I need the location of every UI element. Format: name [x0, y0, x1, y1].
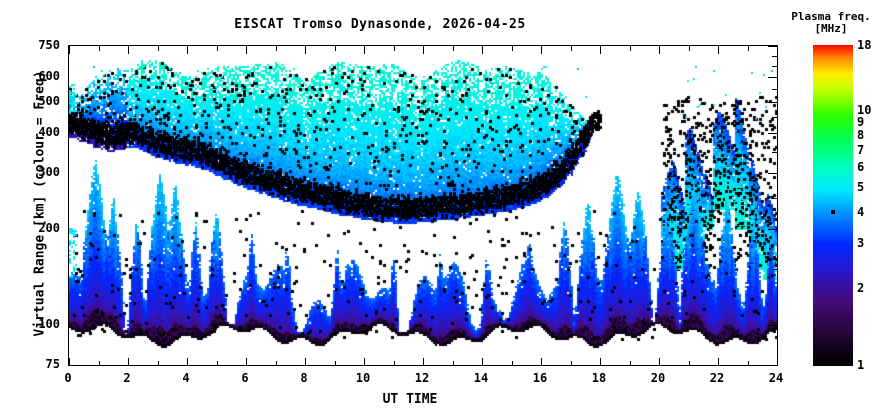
x-minor-tick: [335, 361, 336, 366]
x-tick: [600, 358, 601, 366]
x-tick-top: [335, 46, 336, 51]
y-tick-right: [768, 46, 777, 47]
x-tick-top: [689, 46, 690, 51]
x-tick-top: [718, 46, 719, 54]
y-tick-right: [768, 229, 777, 230]
y-tick: [68, 133, 69, 134]
x-minor-tick: [394, 361, 395, 366]
y-tick-label: 100: [4, 317, 60, 331]
y-tick-label: 75: [4, 357, 60, 371]
x-tick-label: 20: [638, 371, 678, 385]
x-minor-tick: [158, 361, 159, 366]
x-tick-top: [69, 46, 70, 54]
x-tick-label: 12: [402, 371, 442, 385]
x-tick: [777, 358, 778, 366]
x-tick-top: [217, 46, 218, 51]
x-tick-top: [630, 46, 631, 51]
y-minor-tick-right: [772, 152, 777, 153]
ionogram-data-canvas: [69, 46, 777, 365]
colorbar-tick-label: 18: [857, 38, 871, 52]
x-tick: [718, 358, 719, 366]
x-tick-label: 0: [48, 371, 88, 385]
x-minor-tick: [99, 361, 100, 366]
x-minor-tick: [748, 361, 749, 366]
colorbar-gradient: [813, 45, 853, 366]
x-tick-label: 4: [166, 371, 206, 385]
x-tick: [482, 358, 483, 366]
x-tick-label: 8: [284, 371, 324, 385]
y-tick: [68, 77, 69, 78]
colorbar-tick-label: 5: [857, 180, 864, 194]
colorbar-tick-label: 1: [857, 358, 864, 372]
colorbar-tick-label: 4: [857, 205, 864, 219]
y-tick-right: [768, 365, 777, 366]
y-tick: [68, 365, 69, 366]
x-tick: [128, 358, 129, 366]
x-tick-label: 10: [343, 371, 383, 385]
x-tick-top: [600, 46, 601, 54]
x-tick: [423, 358, 424, 366]
x-tick-top: [99, 46, 100, 51]
x-tick-top: [512, 46, 513, 51]
y-tick-label: 400: [4, 125, 60, 139]
y-minor-tick: [68, 269, 69, 270]
colorbar-tick-label: 7: [857, 143, 864, 157]
x-minor-tick: [453, 361, 454, 366]
y-minor-tick: [68, 198, 69, 199]
x-tick-top: [482, 46, 483, 54]
x-minor-tick: [571, 361, 572, 366]
x-tick-top: [394, 46, 395, 51]
x-tick: [541, 358, 542, 366]
y-minor-tick: [68, 56, 69, 57]
x-tick-top: [305, 46, 306, 54]
plot-area[interactable]: [68, 45, 778, 366]
x-tick-label: 6: [225, 371, 265, 385]
x-tick-top: [777, 46, 778, 54]
x-tick-top: [659, 46, 660, 54]
x-tick-top: [571, 46, 572, 51]
ionogram-figure: EISCAT Tromso Dynasonde, 2026-04-25 Virt…: [0, 0, 880, 420]
x-axis-label: UT TIME: [300, 392, 520, 407]
y-minor-tick-right: [772, 66, 777, 67]
x-tick-label: 18: [579, 371, 619, 385]
x-minor-tick: [689, 361, 690, 366]
x-tick-top: [187, 46, 188, 54]
y-minor-tick-right: [772, 56, 777, 57]
y-tick-label: 200: [4, 221, 60, 235]
colorbar-title-line2: [MHz]: [782, 22, 880, 35]
x-tick-label: 14: [461, 371, 501, 385]
y-tick-right: [768, 102, 777, 103]
colorbar-tick-label: 8: [857, 128, 864, 142]
x-tick: [659, 358, 660, 366]
x-minor-tick: [512, 361, 513, 366]
x-tick-label: 2: [107, 371, 147, 385]
y-tick-right: [768, 133, 777, 134]
x-minor-tick: [217, 361, 218, 366]
x-tick-top: [158, 46, 159, 51]
x-tick-label: 16: [520, 371, 560, 385]
y-tick: [68, 173, 69, 174]
colorbar-marker-dot: [831, 210, 835, 214]
colorbar-tick-label: 9: [857, 115, 864, 129]
x-tick: [246, 358, 247, 366]
y-minor-tick: [68, 152, 69, 153]
y-minor-tick-right: [772, 269, 777, 270]
y-tick-label: 500: [4, 94, 60, 108]
y-tick-label: 750: [4, 38, 60, 52]
x-tick-top: [423, 46, 424, 54]
colorbar-tick-label: 2: [857, 281, 864, 295]
y-tick-right: [768, 325, 777, 326]
y-tick-right: [768, 173, 777, 174]
x-tick-top: [128, 46, 129, 54]
x-tick-top: [246, 46, 247, 54]
y-minor-tick-right: [772, 198, 777, 199]
y-tick: [68, 229, 69, 230]
colorbar-tick-label: 6: [857, 160, 864, 174]
y-minor-tick: [68, 117, 69, 118]
y-tick: [68, 102, 69, 103]
x-tick-top: [748, 46, 749, 51]
y-minor-tick-right: [772, 117, 777, 118]
x-tick: [69, 358, 70, 366]
y-minor-tick: [68, 89, 69, 90]
x-minor-tick: [276, 361, 277, 366]
x-tick: [305, 358, 306, 366]
y-tick-label: 300: [4, 165, 60, 179]
x-minor-tick: [630, 361, 631, 366]
x-tick-top: [453, 46, 454, 51]
y-tick-label: 600: [4, 69, 60, 83]
colorbar-tick-label: 3: [857, 236, 864, 250]
colorbar[interactable]: [813, 45, 853, 366]
y-minor-tick: [68, 66, 69, 67]
x-tick-top: [276, 46, 277, 51]
y-minor-tick-right: [772, 89, 777, 90]
y-tick: [68, 325, 69, 326]
figure-title: EISCAT Tromso Dynasonde, 2026-04-25: [0, 17, 760, 32]
x-tick: [187, 358, 188, 366]
x-tick-top: [364, 46, 365, 54]
y-tick-right: [768, 77, 777, 78]
x-tick-top: [541, 46, 542, 54]
x-tick-label: 22: [697, 371, 737, 385]
x-tick: [364, 358, 365, 366]
x-tick-label: 24: [756, 371, 796, 385]
